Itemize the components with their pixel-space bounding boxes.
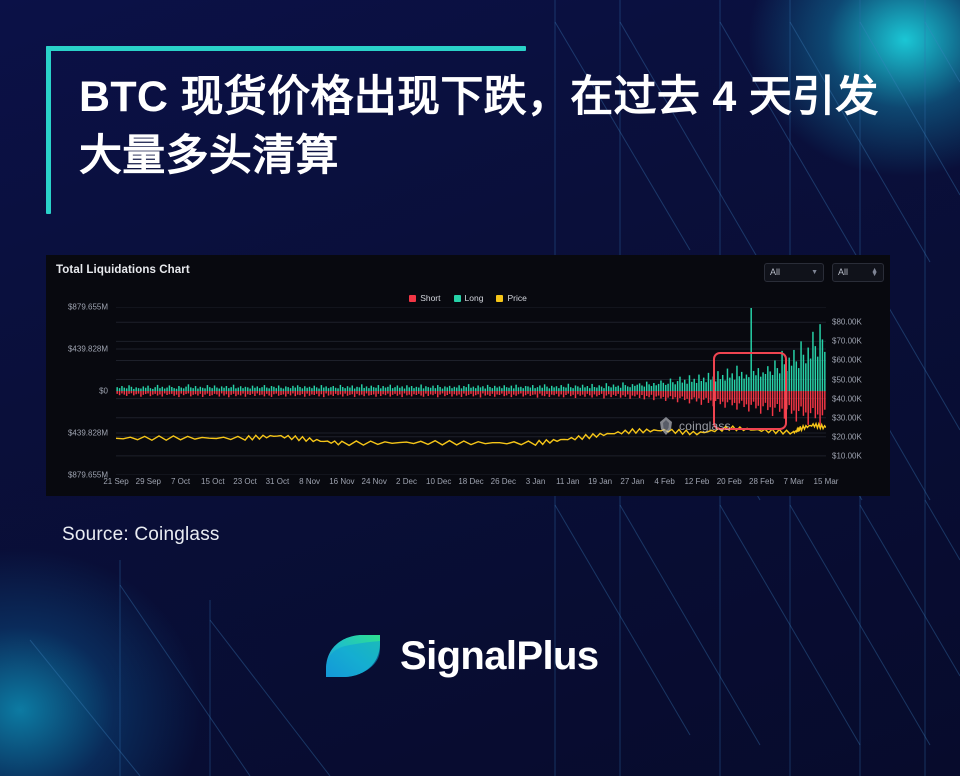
x-tick: 29 Sep <box>136 477 161 486</box>
x-tick: 28 Feb <box>749 477 774 486</box>
chart-title: Total Liquidations Chart <box>56 264 190 276</box>
x-tick: 7 Mar <box>783 477 803 486</box>
symbol-stepper-value: All <box>838 267 848 277</box>
x-tick: 3 Jan <box>526 477 546 486</box>
x-tick: 10 Dec <box>426 477 451 486</box>
stepper-updown-icon: ▲▼ <box>871 269 878 277</box>
legend-swatch-long <box>454 295 461 302</box>
legend-swatch-short <box>409 295 416 302</box>
y-tick-left: $439.828M <box>68 344 108 353</box>
y-tick-right: $70.00K <box>832 337 862 346</box>
x-tick: 15 Oct <box>201 477 225 486</box>
title-block: BTC 现货价格出现下跌，在过去 4 天引发大量多头清算 <box>46 46 906 214</box>
x-tick: 23 Oct <box>233 477 257 486</box>
y-tick-left: $439.828M <box>68 429 108 438</box>
brand-logo: SignalPlus <box>322 625 599 687</box>
y-tick-left: $0 <box>99 387 108 396</box>
chart-panel: Total Liquidations Chart All ▼ All ▲▼ Sh… <box>46 255 890 496</box>
coinglass-logo-icon <box>658 417 674 435</box>
x-tick: 27 Jan <box>620 477 644 486</box>
signalplus-logo-mark <box>322 625 384 687</box>
accent-bar-top <box>46 46 526 51</box>
coinglass-watermark: coinglass <box>658 417 731 435</box>
legend-item-short: Short <box>409 293 440 303</box>
x-axis: 21 Sep29 Sep7 Oct15 Oct23 Oct31 Oct8 Nov… <box>116 477 826 491</box>
y-tick-left: $879.655M <box>68 471 108 480</box>
source-label: Source: Coinglass <box>62 524 220 546</box>
y-tick-right: $40.00K <box>832 394 862 403</box>
y-tick-right: $80.00K <box>832 318 862 327</box>
y-tick-left: $879.655M <box>68 303 108 312</box>
x-tick: 31 Oct <box>266 477 290 486</box>
y-tick-right: $10.00K <box>832 451 862 460</box>
y-tick-right: $60.00K <box>832 356 862 365</box>
x-tick: 16 Nov <box>329 477 354 486</box>
accent-bar-left <box>46 46 51 214</box>
legend-label-short: Short <box>420 293 440 303</box>
legend-label-long: Long <box>465 293 484 303</box>
x-tick: 21 Sep <box>103 477 128 486</box>
x-tick: 26 Dec <box>491 477 516 486</box>
chart-legend: Short Long Price <box>46 293 890 303</box>
chevron-down-icon: ▼ <box>811 269 818 276</box>
x-tick: 19 Jan <box>588 477 612 486</box>
x-tick: 7 Oct <box>171 477 190 486</box>
x-tick: 24 Nov <box>362 477 387 486</box>
symbol-stepper[interactable]: All ▲▼ <box>832 263 884 282</box>
legend-label-price: Price <box>507 293 526 303</box>
legend-swatch-price <box>496 295 503 302</box>
brand-name: SignalPlus <box>400 634 599 679</box>
x-tick: 15 Mar <box>814 477 839 486</box>
legend-item-long: Long <box>454 293 484 303</box>
chart-svg <box>116 307 826 475</box>
x-tick: 11 Jan <box>556 477 579 486</box>
page-title: BTC 现货价格出现下跌，在过去 4 天引发大量多头清算 <box>79 68 905 187</box>
x-tick: 8 Nov <box>299 477 320 486</box>
x-tick: 18 Dec <box>458 477 483 486</box>
x-tick: 4 Feb <box>654 477 674 486</box>
legend-item-price: Price <box>496 293 526 303</box>
coinglass-watermark-text: coinglass <box>679 419 731 433</box>
y-tick-right: $30.00K <box>832 413 862 422</box>
x-tick: 2 Dec <box>396 477 417 486</box>
y-tick-right: $20.00K <box>832 432 862 441</box>
range-dropdown-value: All <box>770 267 780 277</box>
x-tick: 20 Feb <box>717 477 742 486</box>
plot-area <box>116 307 826 475</box>
range-dropdown[interactable]: All ▼ <box>764 263 824 282</box>
x-tick: 12 Feb <box>684 477 709 486</box>
y-tick-right: $50.00K <box>832 375 862 384</box>
